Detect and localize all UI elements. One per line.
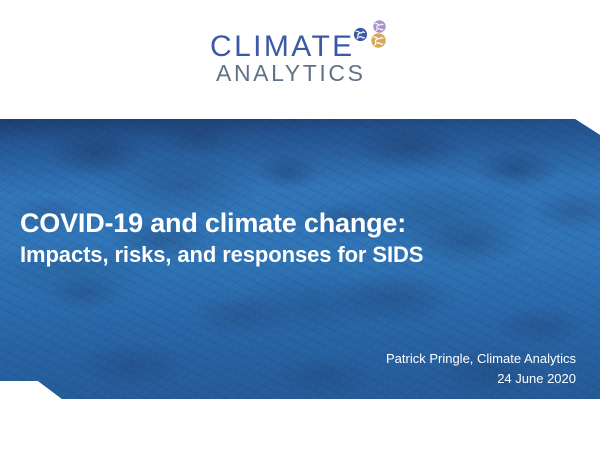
page-subtitle: Impacts, risks, and responses for SIDS (20, 242, 580, 268)
page-title: COVID-19 and climate change: (20, 208, 580, 239)
logo-globes-group (348, 18, 396, 66)
slide-title-group: COVID-19 and climate change: Impacts, ri… (20, 208, 580, 269)
logo-word-analytics: ANALYTICS (216, 62, 366, 85)
byline-group: Patrick Pringle, Climate Analytics 24 Ju… (386, 349, 576, 389)
title-slide: CLIMATE ANALYTICS (0, 0, 600, 450)
logo-word-climate: CLIMATE (210, 32, 355, 62)
globe-icon-blue (354, 28, 367, 41)
climate-analytics-logo: CLIMATE ANALYTICS (0, 22, 600, 102)
globe-icon-violet (373, 20, 385, 32)
byline-date: 24 June 2020 (386, 369, 576, 389)
byline-author: Patrick Pringle, Climate Analytics (386, 349, 576, 369)
globe-icon-gold (371, 33, 385, 47)
